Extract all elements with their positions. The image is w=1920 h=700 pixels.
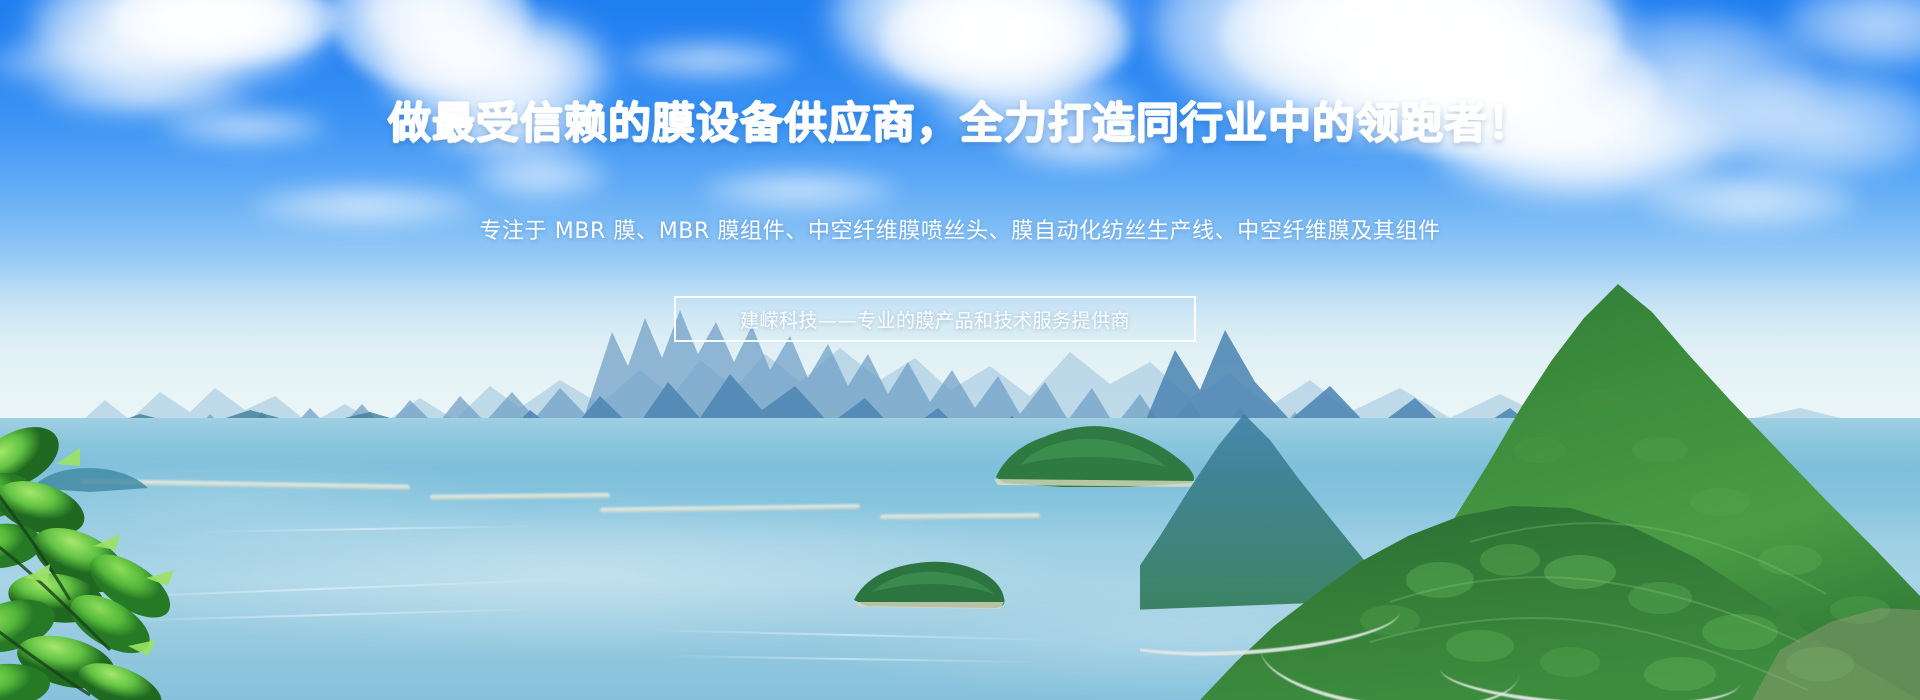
banner-text-layer: 做最受信赖的膜设备供应商，全力打造同行业中的领跑者！ 专注于 MBR 膜、MBR… xyxy=(0,0,1920,700)
banner-subtitle: 专注于 MBR 膜、MBR 膜组件、中空纤维膜喷丝头、膜自动化纺丝生产线、中空纤… xyxy=(0,217,1920,247)
tagline-text: 建嵘科技——专业的膜产品和技术服务提供商 xyxy=(740,306,1130,333)
banner-headline: 做最受信赖的膜设备供应商，全力打造同行业中的领跑者！ xyxy=(0,96,1920,152)
hero-banner: 做最受信赖的膜设备供应商，全力打造同行业中的领跑者！ 专注于 MBR 膜、MBR… xyxy=(0,0,1920,700)
tagline-box: 建嵘科技——专业的膜产品和技术服务提供商 xyxy=(674,296,1196,342)
